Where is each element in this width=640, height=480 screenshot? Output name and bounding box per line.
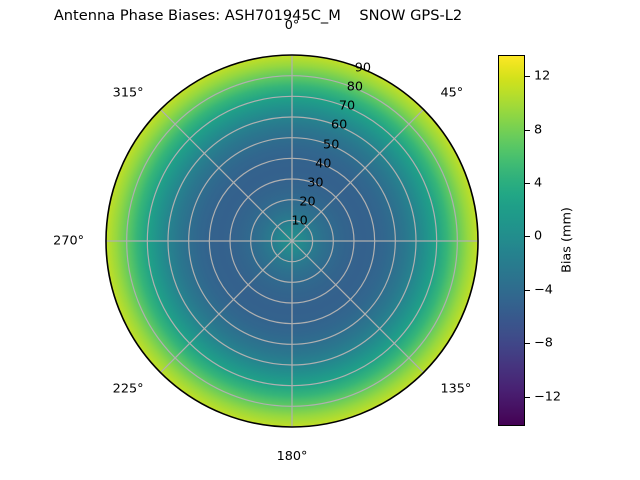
colorbar-gradient: [498, 55, 525, 426]
colorbar-tick-mark: [525, 183, 530, 184]
radial-tick-90: 90: [355, 60, 371, 75]
radial-tick-60: 60: [331, 118, 347, 133]
colorbar-tick-mark: [525, 290, 530, 291]
polar-plot-svg: [105, 54, 479, 428]
theta-tick-270: 270°: [53, 234, 84, 249]
colorbar[interactable]: −12−8−404812: [498, 55, 525, 426]
colorbar-axis-label: Bias (mm): [560, 207, 575, 273]
theta-tick-135: 135°: [440, 382, 471, 397]
radial-tick-40: 40: [315, 156, 331, 171]
polar-gridlines: [106, 55, 478, 427]
colorbar-tick-mark: [525, 397, 530, 398]
theta-tick-225: 225°: [113, 382, 144, 397]
page-title: Antenna Phase Biases: ASH701945C_M SNOW …: [0, 7, 516, 24]
radial-tick-30: 30: [307, 175, 323, 190]
radial-tick-80: 80: [347, 80, 363, 95]
colorbar-tick-label: −12: [534, 389, 561, 404]
theta-tick-0: 0°: [285, 18, 300, 33]
theta-tick-180: 180°: [277, 449, 308, 464]
radial-tick-10: 10: [291, 213, 307, 228]
colorbar-tick-label: 0: [534, 229, 542, 244]
colorbar-tick-mark: [525, 236, 530, 237]
theta-tick-45: 45°: [440, 85, 463, 100]
theta-tick-315: 315°: [113, 85, 144, 100]
colorbar-tick-label: 4: [534, 176, 542, 191]
colorbar-tick-label: −4: [534, 282, 553, 297]
colorbar-tick-mark: [525, 76, 530, 77]
colorbar-tick-mark: [525, 343, 530, 344]
colorbar-tick-mark: [525, 130, 530, 131]
radial-tick-70: 70: [339, 99, 355, 114]
colorbar-tick-label: −8: [534, 336, 553, 351]
colorbar-tick-label: 8: [534, 122, 542, 137]
colorbar-tick-label: 12: [534, 69, 550, 84]
radial-tick-50: 50: [323, 137, 339, 152]
figure-canvas: Antenna Phase Biases: ASH701945C_M SNOW …: [0, 0, 640, 480]
polar-axes: 0° 45° 90 135° 180° 225° 270° 315° 10203…: [105, 54, 479, 428]
radial-tick-20: 20: [299, 194, 315, 209]
